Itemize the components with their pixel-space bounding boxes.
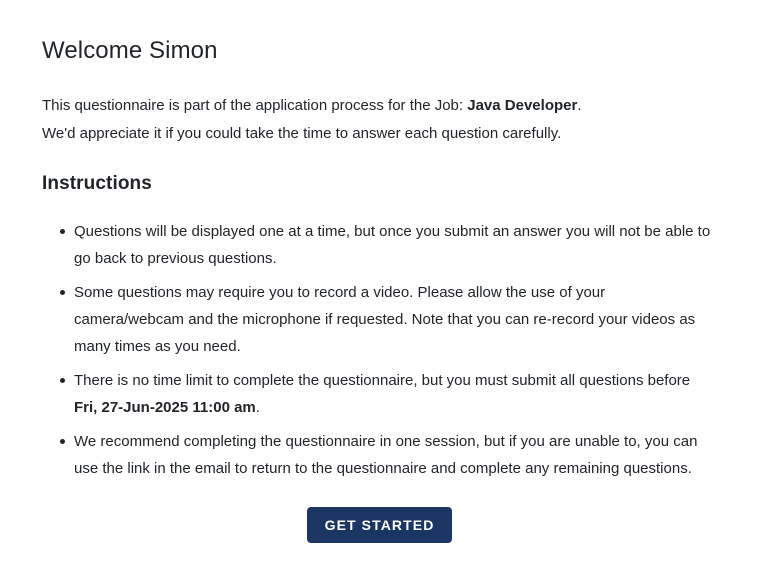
- list-item-text: We recommend completing the questionnair…: [74, 433, 697, 477]
- intro-line-job-suffix: .: [577, 97, 581, 114]
- list-item-text: Some questions may require you to record…: [74, 284, 695, 355]
- job-title-text: Java Developer: [467, 97, 577, 114]
- list-item: Questions will be displayed one at a tim…: [42, 218, 717, 272]
- deadline-text: Fri, 27-Jun-2025 11:00 am: [74, 399, 256, 416]
- questionnaire-welcome-page: Welcome Simon This questionnaire is part…: [0, 0, 759, 576]
- list-item: There is no time limit to complete the q…: [42, 367, 717, 421]
- list-item-text: Questions will be displayed one at a tim…: [74, 223, 710, 267]
- intro-paragraph: This questionnaire is part of the applic…: [42, 92, 717, 148]
- list-item: Some questions may require you to record…: [42, 279, 717, 360]
- list-item: We recommend completing the questionnair…: [42, 428, 717, 482]
- instructions-list: Questions will be displayed one at a tim…: [42, 218, 717, 482]
- bullet-icon: [60, 290, 65, 295]
- bullet-icon: [60, 439, 65, 444]
- intro-line-appreciation: We'd appreciate it if you could take the…: [42, 120, 717, 148]
- bullet-icon: [60, 229, 65, 234]
- intro-line-job: This questionnaire is part of the applic…: [42, 92, 717, 120]
- intro-line-job-prefix: This questionnaire is part of the applic…: [42, 97, 467, 114]
- instructions-heading: Instructions: [42, 172, 717, 196]
- list-item-text-prefix: There is no time limit to complete the q…: [74, 372, 690, 389]
- list-item-text-suffix: .: [256, 399, 260, 416]
- bullet-icon: [60, 378, 65, 383]
- get-started-button[interactable]: GET STARTED: [307, 507, 453, 543]
- page-title: Welcome Simon: [42, 36, 717, 66]
- cta-row: GET STARTED: [42, 507, 717, 543]
